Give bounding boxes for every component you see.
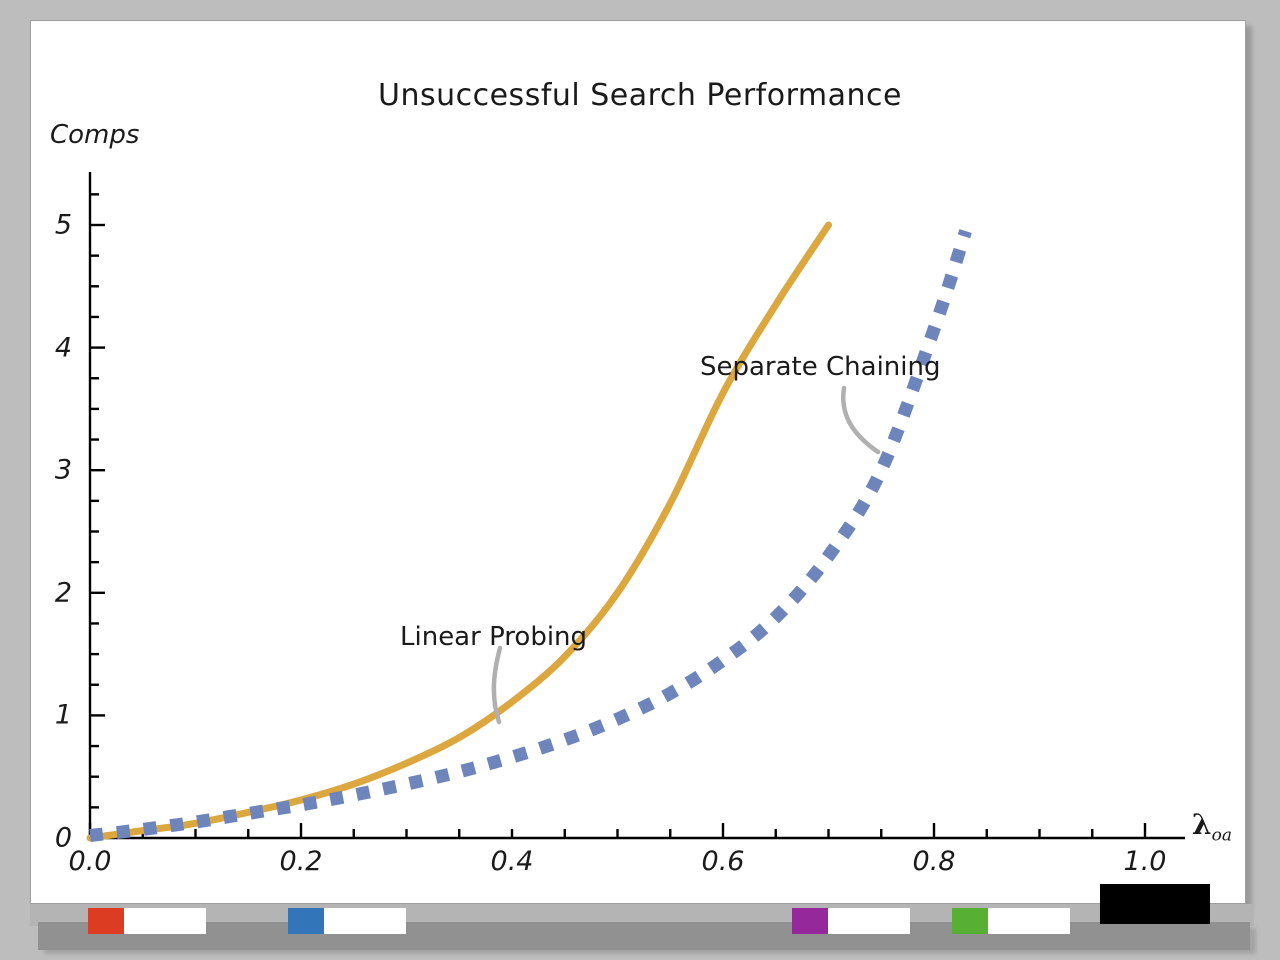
green-tab-swatch <box>952 908 988 934</box>
purple-tab[interactable] <box>792 908 910 934</box>
red-tab[interactable] <box>88 908 206 934</box>
red-tab-sheet <box>124 908 206 934</box>
blue-tab[interactable] <box>288 908 406 934</box>
purple-tab-sheet <box>828 908 910 934</box>
blue-tab-swatch <box>288 908 324 934</box>
green-tab[interactable] <box>952 908 1070 934</box>
blue-tab-sheet <box>324 908 406 934</box>
purple-tab-swatch <box>792 908 828 934</box>
slide-root: Unsuccessful Search Performance Comps λo… <box>0 0 1280 960</box>
black-box <box>1100 884 1210 924</box>
red-tab-swatch <box>88 908 124 934</box>
green-tab-sheet <box>988 908 1070 934</box>
slide-panel <box>30 20 1246 904</box>
